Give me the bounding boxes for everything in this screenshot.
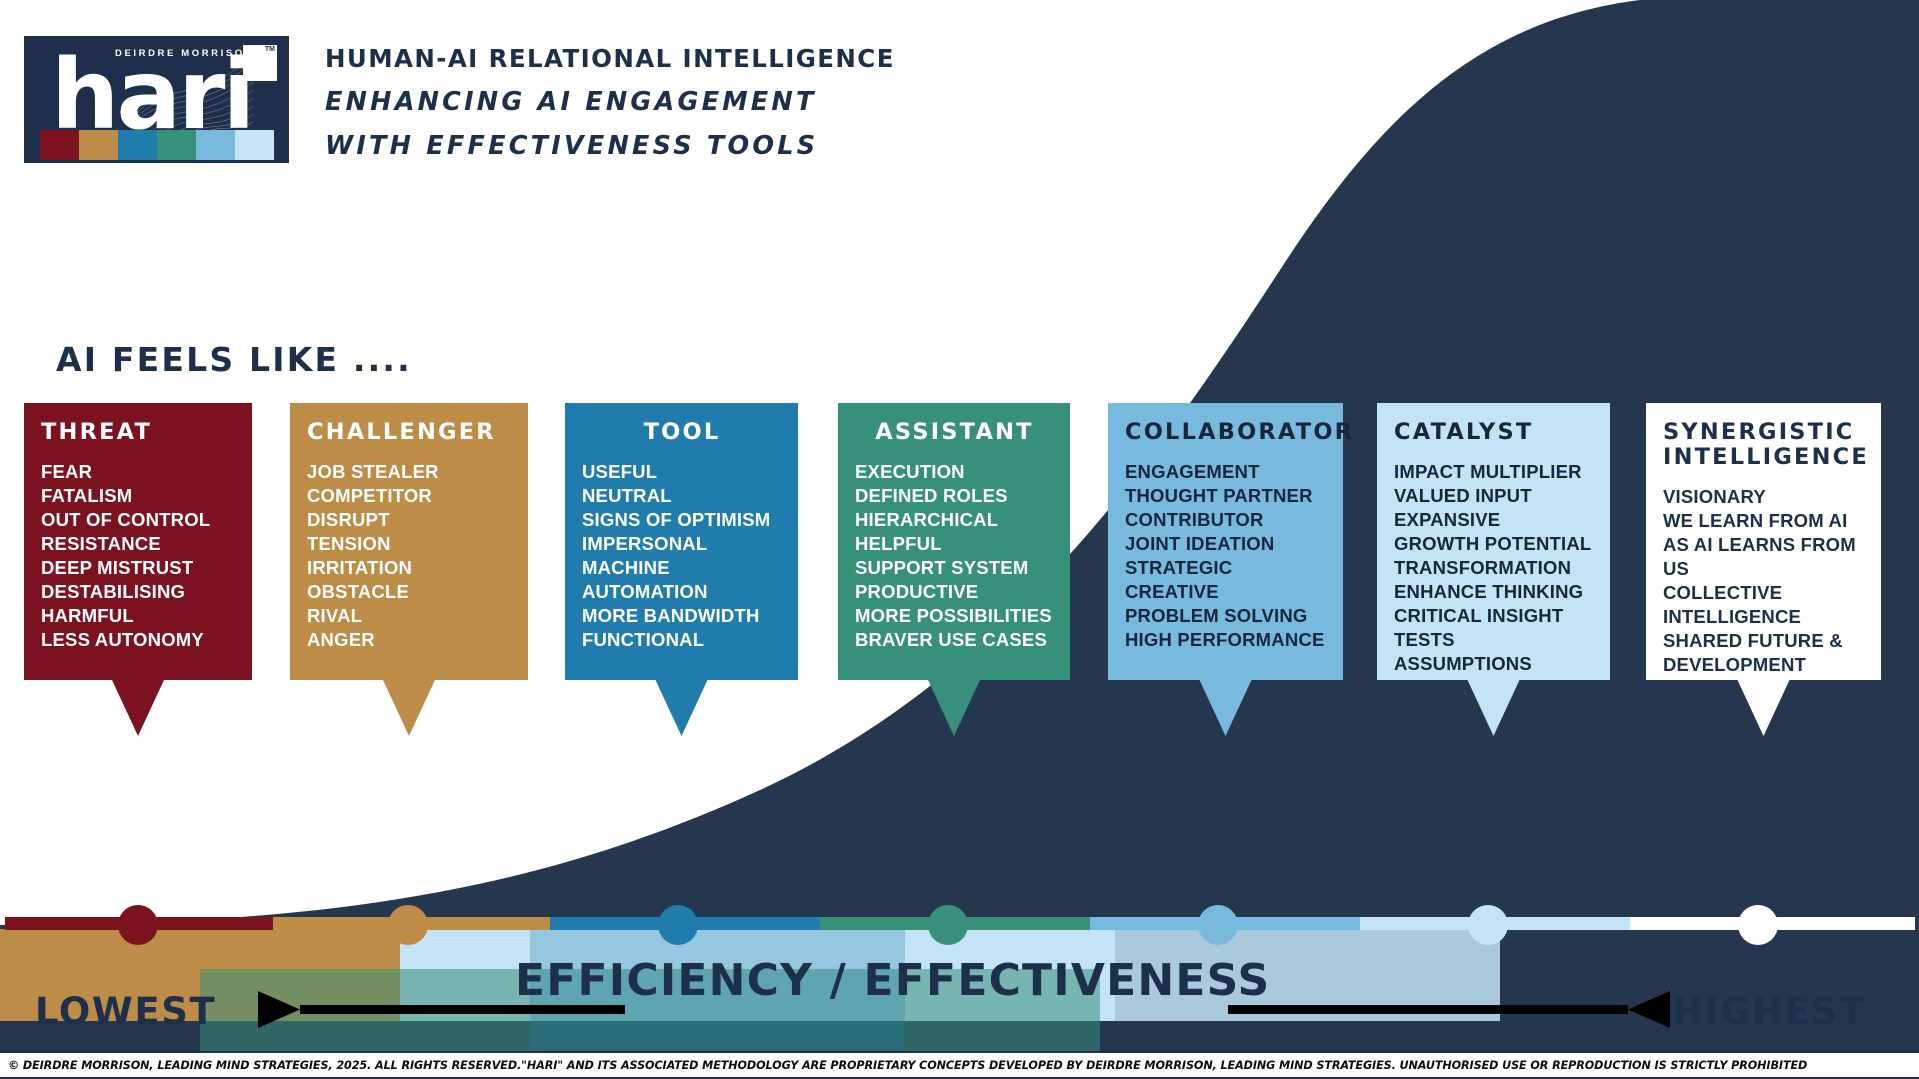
card-attribute-item: AUTOMATION (582, 580, 782, 604)
header-line-2: ENHANCING AI ENGAGEMENT (325, 87, 895, 117)
card-pointer (1108, 680, 1343, 736)
header-line-3: WITH EFFECTIVENESS TOOLS (325, 131, 895, 161)
logo-swatch-3 (157, 130, 196, 160)
stage-card-catalyst[interactable]: CATALYSTIMPACT MULTIPLIERVALUED INPUTEXP… (1377, 403, 1610, 680)
card-attribute-list: ENGAGEMENTTHOUGHT PARTNERCONTRIBUTORJOIN… (1125, 460, 1327, 652)
copyright-bar: © DEIRDRE MORRISON, LEADING MIND STRATEG… (0, 1051, 1919, 1079)
card-body: TOOLUSEFULNEUTRALSIGNS OF OPTIMISMIMPERS… (565, 403, 798, 680)
section-label-ai-feels-like: AI FEELS LIKE .... (56, 340, 412, 379)
card-attribute-item: IMPACT MULTIPLIER (1394, 460, 1594, 484)
card-attribute-item: HIERARCHICAL (855, 508, 1054, 532)
card-attribute-item: JOB STEALER (307, 460, 512, 484)
logo-swatch-4 (196, 130, 235, 160)
stage-card-challenger[interactable]: CHALLENGERJOB STEALERCOMPETITORDISRUPTTE… (290, 403, 528, 680)
card-attribute-item: US (1663, 557, 1865, 581)
logo-swatch-2 (118, 130, 157, 160)
card-attribute-item: ENGAGEMENT (1125, 460, 1327, 484)
card-title: TOOL (582, 420, 782, 445)
card-attribute-item: CREATIVE (1125, 580, 1327, 604)
card-attribute-item: RESISTANCE (41, 532, 236, 556)
card-body: CATALYSTIMPACT MULTIPLIERVALUED INPUTEXP… (1377, 403, 1610, 680)
card-body: SYNERGISTIC INTELLIGENCEVISIONARYWE LEAR… (1646, 403, 1881, 680)
stage-card-collaborator[interactable]: COLLABORATORENGAGEMENTTHOUGHT PARTNERCON… (1108, 403, 1343, 680)
card-attribute-item: MACHINE (582, 556, 782, 580)
card-attribute-item: INTELLIGENCE (1663, 605, 1865, 629)
card-attribute-item: TESTS ASSUMPTIONS (1394, 628, 1594, 676)
card-title: CATALYST (1394, 420, 1594, 445)
trademark-badge: TM (243, 45, 277, 81)
card-attribute-item: FEAR (41, 460, 236, 484)
card-attribute-item: FATALISM (41, 484, 236, 508)
card-attribute-list: VISIONARYWE LEARN FROM AIAS AI LEARNS FR… (1663, 485, 1865, 677)
card-attribute-item: THOUGHT PARTNER (1125, 484, 1327, 508)
card-attribute-item: PROBLEM SOLVING (1125, 604, 1327, 628)
card-title: ASSISTANT (855, 420, 1054, 445)
card-attribute-item: DEFINED ROLES (855, 484, 1054, 508)
logo-swatch-1 (79, 130, 118, 160)
card-attribute-item: STRATEGIC (1125, 556, 1327, 580)
card-attribute-list: FEARFATALISMOUT OF CONTROLRESISTANCEDEEP… (41, 460, 236, 652)
card-attribute-item: TRANSFORMATION (1394, 556, 1594, 580)
card-body: CHALLENGERJOB STEALERCOMPETITORDISRUPTTE… (290, 403, 528, 680)
header-titles: HUMAN-AI RELATIONAL INTELLIGENCE ENHANCI… (325, 36, 895, 161)
card-attribute-item: OBSTACLE (307, 580, 512, 604)
card-attribute-item: NEUTRAL (582, 484, 782, 508)
infographic-canvas: hari DEIRDRE MORRISON'S TM HUMAN-AI RELA… (0, 0, 1919, 1079)
card-attribute-list: EXECUTIONDEFINED ROLESHIERARCHICALHELPFU… (855, 460, 1054, 652)
logo-swatch-0 (40, 130, 79, 160)
card-body: COLLABORATORENGAGEMENTTHOUGHT PARTNERCON… (1108, 403, 1343, 680)
card-attribute-item: EXECUTION (855, 460, 1054, 484)
card-attribute-item: TENSION (307, 532, 512, 556)
copyright-text: © DEIRDRE MORRISON, LEADING MIND STRATEG… (0, 1059, 1807, 1072)
card-attribute-item: MORE BANDWIDTH (582, 604, 782, 628)
card-attribute-item: VISIONARY (1663, 485, 1865, 509)
card-attribute-item: VALUED INPUT (1394, 484, 1594, 508)
card-attribute-item: LESS AUTONOMY (41, 628, 236, 652)
stage-card-synergistic-intelligence[interactable]: SYNERGISTIC INTELLIGENCEVISIONARYWE LEAR… (1646, 403, 1881, 680)
card-body: ASSISTANTEXECUTIONDEFINED ROLESHIERARCHI… (838, 403, 1070, 680)
stage-card-assistant[interactable]: ASSISTANTEXECUTIONDEFINED ROLESHIERARCHI… (838, 403, 1070, 680)
tm-text: TM (265, 46, 275, 53)
card-title: SYNERGISTIC INTELLIGENCE (1663, 420, 1865, 470)
card-attribute-item: MORE POSSIBILITIES (855, 604, 1054, 628)
card-attribute-item: WE LEARN FROM AI (1663, 509, 1865, 533)
card-body: THREATFEARFATALISMOUT OF CONTROLRESISTAN… (24, 403, 252, 680)
page-header: hari DEIRDRE MORRISON'S TM HUMAN-AI RELA… (24, 36, 895, 163)
card-attribute-item: RIVAL (307, 604, 512, 628)
card-attribute-item: SHARED FUTURE & (1663, 629, 1865, 653)
header-line-1: HUMAN-AI RELATIONAL INTELLIGENCE (325, 44, 895, 73)
card-pointer (838, 680, 1070, 736)
card-title: THREAT (41, 420, 236, 445)
card-attribute-item: HELPFUL (855, 532, 1054, 556)
card-pointer (24, 680, 252, 736)
card-attribute-item: JOINT IDEATION (1125, 532, 1327, 556)
card-attribute-item: CONTRIBUTOR (1125, 508, 1327, 532)
logo-color-swatches (40, 130, 274, 160)
card-attribute-item: OUT OF CONTROL (41, 508, 236, 532)
card-attribute-item: ENHANCE THINKING (1394, 580, 1594, 604)
card-attribute-item: USEFUL (582, 460, 782, 484)
card-attribute-item: SIGNS OF OPTIMISM (582, 508, 782, 532)
card-attribute-item: PRODUCTIVE (855, 580, 1054, 604)
card-attribute-item: BRAVER USE CASES (855, 628, 1054, 652)
stage-card-threat[interactable]: THREATFEARFATALISMOUT OF CONTROLRESISTAN… (24, 403, 252, 680)
card-attribute-item: EXPANSIVE (1394, 508, 1594, 532)
card-attribute-item: AS AI LEARNS FROM (1663, 533, 1865, 557)
card-pointer (290, 680, 528, 736)
card-pointer (1646, 680, 1881, 736)
card-attribute-item: CRITICAL INSIGHT (1394, 604, 1594, 628)
card-pointer (565, 680, 798, 736)
logo-swatch-5 (235, 130, 274, 160)
card-attribute-item: SUPPORT SYSTEM (855, 556, 1054, 580)
card-attribute-list: IMPACT MULTIPLIERVALUED INPUTEXPANSIVEGR… (1394, 460, 1594, 676)
axis-arrows (0, 929, 1919, 1049)
card-attribute-item: GROWTH POTENTIAL (1394, 532, 1594, 556)
card-attribute-item: FUNCTIONAL (582, 628, 782, 652)
card-attribute-item: IMPERSONAL (582, 532, 782, 556)
stage-card-tool[interactable]: TOOLUSEFULNEUTRALSIGNS OF OPTIMISMIMPERS… (565, 403, 798, 680)
card-attribute-item: HIGH PERFORMANCE (1125, 628, 1327, 652)
logo-wordmark: hari (51, 47, 252, 143)
card-attribute-list: JOB STEALERCOMPETITORDISRUPTTENSIONIRRIT… (307, 460, 512, 652)
card-attribute-item: COLLECTIVE (1663, 581, 1865, 605)
card-title: CHALLENGER (307, 420, 512, 445)
card-attribute-item: COMPETITOR (307, 484, 512, 508)
card-attribute-item: ANGER (307, 628, 512, 652)
card-attribute-item: DEVELOPMENT (1663, 653, 1865, 677)
card-title: COLLABORATOR (1125, 420, 1327, 445)
card-attribute-item: DEEP MISTRUST (41, 556, 236, 580)
card-attribute-list: USEFULNEUTRALSIGNS OF OPTIMISMIMPERSONAL… (582, 460, 782, 652)
card-attribute-item: DISRUPT (307, 508, 512, 532)
hari-logo: hari DEIRDRE MORRISON'S TM (24, 36, 289, 163)
card-pointer (1377, 680, 1610, 736)
card-attribute-item: IRRITATION (307, 556, 512, 580)
card-attribute-item: HARMFUL (41, 604, 236, 628)
card-attribute-item: DESTABILISING (41, 580, 236, 604)
